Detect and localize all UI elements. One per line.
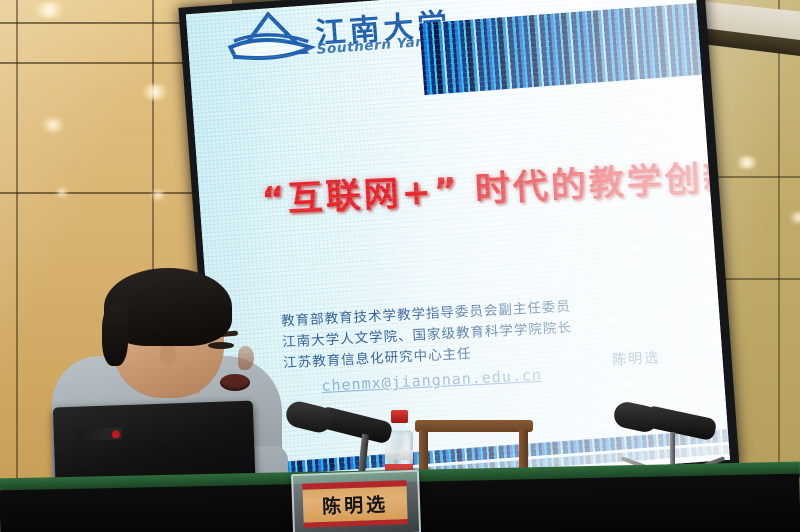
microphone-icon [286, 398, 406, 478]
photo-scene: 江南大学 Southern Yangtze University “互联网+” … [0, 0, 800, 532]
nameplate-card: 陈明选 [302, 480, 407, 528]
presenter-hair-side [102, 304, 128, 366]
nameplate: 陈明选 [291, 470, 417, 532]
nameplate-text: 陈明选 [322, 490, 389, 519]
nameplate-holder: 陈明选 [291, 470, 421, 532]
